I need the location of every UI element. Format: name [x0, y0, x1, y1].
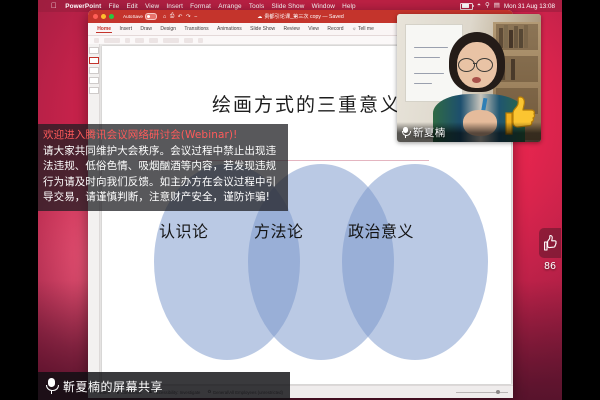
home-icon[interactable]: ⌂	[163, 14, 166, 20]
window-controls[interactable]	[93, 14, 114, 19]
menu-format[interactable]: Format	[187, 3, 215, 10]
menu-arrange[interactable]: Arrange	[215, 3, 246, 10]
tab-insert[interactable]: Insert	[115, 26, 136, 32]
reaction-count: 86	[544, 261, 556, 272]
venn-label-2[interactable]: 方法论	[254, 218, 304, 242]
tab-transitions[interactable]: Transitions	[180, 26, 213, 32]
titlebar-quick-actions[interactable]: ⌂ ⎙ ↶ ↷ −	[163, 13, 198, 20]
screen-root:  PowerPoint File Edit View Insert Forma…	[0, 0, 600, 400]
tell-me-label: Tell me	[358, 26, 374, 32]
control-center-icon[interactable]: ▤	[494, 3, 500, 10]
tab-review[interactable]: Review	[279, 26, 304, 32]
venn-circle-3[interactable]	[342, 164, 488, 360]
menu-insert[interactable]: Insert	[163, 3, 187, 10]
webinar-notice-overlay: 欢迎进入腾讯会议网络研讨会(Webinar)! 请大家共同维护大会秩序。会议过程…	[38, 124, 288, 211]
cloud-sync-icon: ☁	[257, 14, 262, 20]
menu-tools[interactable]: Tools	[245, 3, 268, 10]
tab-home[interactable]: Home	[93, 26, 115, 32]
tab-record[interactable]: Record	[323, 26, 348, 32]
letterbox-left	[0, 0, 38, 400]
screen-share-label: 靳夏楠的屏幕共享	[63, 378, 163, 395]
zoom-slider-handle[interactable]	[496, 390, 500, 394]
window-title: 贵都引论课_第三次 copy — Saved	[264, 13, 344, 20]
minimize-window-button[interactable]	[101, 14, 106, 19]
screen-share-bar[interactable]: 靳夏楠的屏幕共享	[38, 372, 290, 400]
autosave-label: AutoSave	[123, 14, 143, 19]
paragraph-group[interactable]	[149, 38, 158, 43]
thumbs-up-icon	[543, 235, 557, 251]
menu-file[interactable]: File	[105, 3, 123, 10]
apple-icon[interactable]: 	[51, 2, 57, 10]
font-size-select[interactable]	[125, 38, 130, 43]
tab-draw[interactable]: Draw	[136, 26, 156, 32]
slide-thumbnail-selected[interactable]	[89, 57, 99, 64]
bold-italic-group[interactable]	[135, 38, 144, 43]
slide-thumbnail[interactable]	[89, 47, 99, 54]
reaction-rail[interactable]: 86	[538, 228, 562, 310]
slide-thumbnail[interactable]	[89, 67, 99, 74]
menu-help[interactable]: Help	[339, 3, 360, 10]
maximize-window-button[interactable]	[109, 14, 114, 19]
undo-icon[interactable]: ↶	[178, 14, 183, 20]
venn-label-1[interactable]: 认识论	[159, 218, 209, 242]
eyeglasses-right-lens	[476, 58, 493, 72]
slide-thumbnail[interactable]	[89, 87, 99, 94]
tell-me-box[interactable]: ☼ Tell me	[348, 26, 378, 32]
font-family-select[interactable]	[104, 38, 120, 43]
more-icon[interactable]: −	[194, 14, 197, 20]
person-mouth	[472, 77, 481, 83]
microphone-icon[interactable]	[401, 126, 410, 138]
menu-view[interactable]: View	[141, 3, 162, 10]
print-icon[interactable]: ⎙	[170, 13, 174, 20]
participant-video-tile[interactable]: 靳夏楠	[397, 14, 541, 142]
eyeglasses-bridge	[473, 63, 477, 64]
notice-line-1: 欢迎进入腾讯会议网络研讨会(Webinar)!	[43, 128, 283, 144]
tab-animations[interactable]: Animations	[213, 26, 246, 32]
menubar-clock[interactable]: Mon 31 Aug 13:08	[504, 3, 555, 10]
participant-name: 靳夏楠	[413, 125, 446, 140]
menubar-app-name[interactable]: PowerPoint	[62, 3, 105, 10]
paste-button[interactable]	[94, 38, 99, 43]
thumbs-up-reaction-button[interactable]	[539, 228, 561, 258]
tab-view[interactable]: View	[304, 26, 323, 32]
notice-line-2: 请大家共同维护大会秩序。会议过程中禁止出现违	[43, 144, 283, 160]
search-icon[interactable]: ⚲	[485, 3, 490, 10]
menu-slide-show[interactable]: Slide Show	[268, 3, 308, 10]
slide-thumbnail-panel[interactable]	[88, 44, 100, 386]
wifi-icon[interactable]: ◓	[477, 3, 481, 10]
zoom-slider[interactable]	[456, 392, 508, 393]
slide-thumbnail[interactable]	[89, 77, 99, 84]
letterbox-right	[562, 0, 600, 400]
autosave-control[interactable]: AutoSave	[123, 13, 157, 20]
venn-label-3[interactable]: 政治意义	[348, 218, 414, 242]
menubar-status-area[interactable]: ◓ ⚲ ▤ Mon 31 Aug 13:08	[460, 3, 559, 10]
lightbulb-icon: ☼	[352, 26, 357, 32]
battery-icon[interactable]	[460, 3, 473, 10]
designer-button[interactable]	[198, 38, 203, 43]
microphone-icon[interactable]	[45, 378, 58, 395]
tab-design[interactable]: Design	[156, 26, 180, 32]
notice-line-4: 行为请及时向我们反馈。如主办方在会议过程中引	[43, 175, 283, 191]
menu-window[interactable]: Window	[308, 3, 339, 10]
close-window-button[interactable]	[93, 14, 98, 19]
menu-edit[interactable]: Edit	[123, 3, 142, 10]
eyeglasses-left-lens	[458, 58, 475, 72]
notice-line-3: 法违规、低俗色情、吸烟酗酒等内容，若发现违规	[43, 159, 283, 175]
video-name-bar: 靳夏楠	[397, 122, 541, 142]
arrange-button[interactable]	[184, 38, 193, 43]
shapes-gallery[interactable]	[163, 38, 179, 43]
autosave-toggle[interactable]	[145, 13, 157, 20]
notice-line-5: 导交易，请谨慎判断，注意财产安全，谨防诈骗!	[43, 190, 283, 206]
tab-slide-show[interactable]: Slide Show	[246, 26, 279, 32]
redo-icon[interactable]: ↷	[186, 14, 191, 20]
